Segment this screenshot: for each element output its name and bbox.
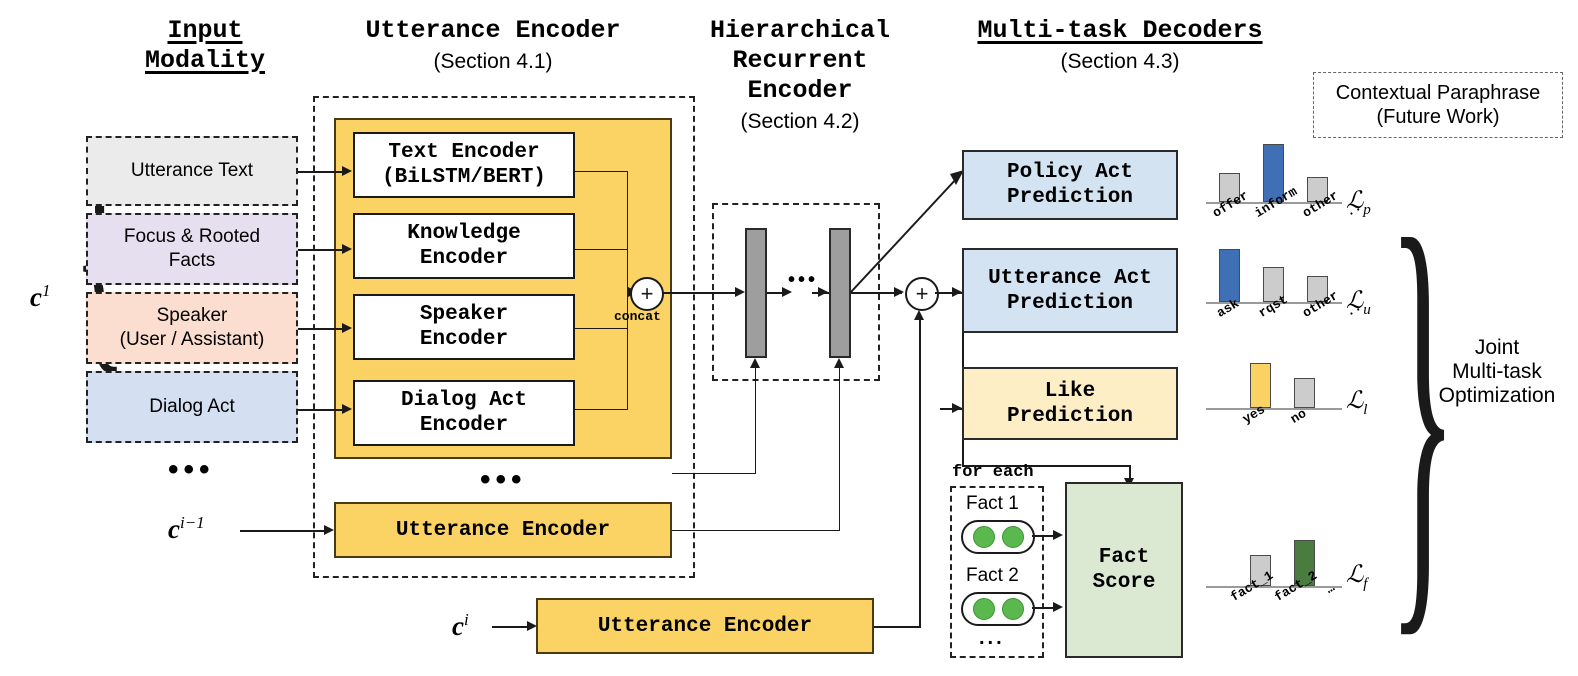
future-work-box: Contextual Paraphrase (Future Work) [1313, 72, 1563, 138]
like-chart-axis [1206, 408, 1342, 410]
heading-input-modality-line2: Modality [100, 46, 310, 76]
input-speaker: Speaker (User / Assistant) [86, 292, 298, 364]
fact-1-capsule [961, 520, 1035, 554]
input-focus-rooted-facts-label: Focus & Rooted Facts [124, 225, 260, 273]
joint-optimization-line3: Optimization [1422, 384, 1572, 408]
like-prediction-box: Like Prediction [962, 367, 1178, 440]
arrow-line-prev-context [240, 530, 325, 532]
fact-score-chart: fact_1 fact_2 … [1206, 524, 1366, 624]
input-speaker-label: Speaker (User / Assistant) [120, 304, 265, 352]
input-dialog-act-label: Dialog Act [149, 395, 235, 419]
prev-utterance-encoder-label: Utterance Encoder [396, 518, 610, 543]
arrow-line-focus-facts [298, 249, 342, 251]
heading-hierarchical-l3: Encoder [680, 76, 920, 106]
bus-line-text-encoder [575, 171, 627, 172]
arrow-head-dialog-act [342, 404, 352, 414]
text-encoder-box: Text Encoder (BiLSTM/BERT) [353, 132, 575, 198]
arrow-head-merge-bottom [914, 310, 924, 320]
heading-utterance-encoder-section: (Section 4.1) [318, 48, 668, 76]
like-prediction-label: Like Prediction [1007, 379, 1133, 429]
concat-node: + [630, 277, 664, 311]
heading-multitask-decoders: Multi-task Decoders (Section 4.3) [940, 16, 1300, 76]
context-i-minus-1-label: ci−1 [168, 514, 205, 543]
fact-score-chart-tick-2: … [1323, 580, 1337, 597]
fact-score-label: Fact Score [1092, 545, 1155, 595]
arrow-head-fact-2 [1053, 602, 1063, 612]
like-chart-bar-1 [1294, 378, 1315, 408]
like-loss-label: ℒl [1346, 388, 1367, 418]
heading-hierarchical-l2: Recurrent [680, 46, 920, 76]
arrow-head-prev-context [324, 525, 334, 535]
current-utterance-encoder-label: Utterance Encoder [598, 614, 812, 639]
utterance-act-chart-bar-0 [1219, 249, 1240, 302]
heading-multitask-title: Multi-task Decoders [940, 16, 1300, 46]
heading-utterance-encoder: Utterance Encoder (Section 4.1) [318, 16, 668, 76]
utterance-act-chart-tick-1: rqst [1256, 292, 1290, 321]
heading-hierarchical-l1: Hierarchical [680, 16, 920, 46]
hre-ellipsis: ••• [788, 270, 818, 290]
arrow-head-fact-1 [1053, 530, 1063, 540]
merge-bottom-feed-horizontal [874, 626, 921, 628]
policy-act-chart: offer inform other .. [1206, 152, 1366, 242]
arrow-line-speaker [298, 328, 342, 330]
policy-act-diagonal-arrow [840, 160, 970, 300]
arrow-head-utterance-act [952, 287, 962, 297]
concat-label: concat [614, 309, 661, 324]
text-encoder-label: Text Encoder (BiLSTM/BERT) [382, 140, 546, 190]
arrow-head-hre-mid [782, 287, 792, 297]
arrow-head-speaker [342, 323, 352, 333]
input-dialog-act: Dialog Act [86, 371, 298, 443]
utterance-act-loss-label: ℒu [1346, 288, 1371, 318]
heading-hierarchical-encoder: Hierarchical Recurrent Encoder (Section … [680, 16, 920, 136]
arrow-line-utterance-text [298, 171, 342, 173]
input-modality-ellipsis: ••• [168, 455, 215, 485]
heading-utterance-encoder-title: Utterance Encoder [318, 16, 668, 46]
arrow-head-cell1-bottom [750, 358, 760, 368]
arrow-head-current-context [527, 621, 537, 631]
for-each-label: for each [952, 463, 1034, 482]
fact-2-dot-a [973, 598, 995, 620]
arrow-head-hre-cell2 [818, 287, 828, 297]
fact-block-ellipsis: ... [979, 628, 1005, 648]
context-1-label: c1 [30, 282, 50, 311]
arrow-line-dialog-act [298, 409, 342, 411]
bus-line-knowledge-encoder [575, 249, 627, 250]
hre-cell-1 [745, 228, 767, 358]
concat-plus-symbol: + [641, 283, 654, 305]
knowledge-encoder-box: Knowledge Encoder [353, 213, 575, 279]
utterance-encoder-inner-ellipsis: ••• [480, 465, 527, 495]
input-utterance-text: Utterance Text [86, 136, 298, 206]
fact-1-caption: Fact 1 [966, 493, 1019, 515]
dialog-act-encoder-label: Dialog Act Encoder [401, 388, 527, 438]
input-focus-rooted-facts: Focus & Rooted Facts [86, 213, 298, 285]
utterance-act-prediction-label: Utterance Act Prediction [988, 266, 1152, 316]
joint-optimization-line1: Joint [1422, 336, 1572, 360]
fact-score-loss-label: ℒf [1346, 562, 1367, 592]
speaker-encoder-box: Speaker Encoder [353, 294, 575, 360]
policy-act-prediction-label: Policy Act Prediction [1007, 160, 1133, 210]
dialog-act-encoder-box: Dialog Act Encoder [353, 380, 575, 446]
arrow-head-like [952, 403, 962, 413]
fact-1-dot-a [973, 526, 995, 548]
fact-2-capsule [961, 592, 1035, 626]
context-i-label: ci [452, 611, 469, 640]
joint-optimization-line2: Multi-task [1422, 360, 1572, 384]
fact-score-box: Fact Score [1065, 482, 1183, 658]
arrow-head-utterance-text [342, 166, 352, 176]
current-utterance-encoder-box: Utterance Encoder [536, 598, 874, 654]
joint-optimization-label: Joint Multi-task Optimization [1422, 336, 1572, 408]
prev-utterance-encoder-box: Utterance Encoder [334, 502, 672, 558]
arrow-head-cell2-bottom [834, 358, 844, 368]
heading-input-modality-line1: Input [100, 16, 310, 46]
input-utterance-text-label: Utterance Text [131, 159, 253, 183]
arrow-line-current-context [492, 626, 530, 628]
like-chart: yes no [1206, 358, 1366, 448]
feed-line-prev-encoder-out [672, 473, 756, 474]
future-work-line2: (Future Work) [1377, 105, 1500, 129]
knowledge-encoder-label: Knowledge Encoder [407, 221, 520, 271]
fact-1-dot-b [1002, 526, 1024, 548]
feed-line-current-encoder-out [672, 530, 840, 531]
fact-score-chart-axis [1206, 586, 1342, 588]
speaker-encoder-label: Speaker Encoder [420, 302, 508, 352]
utterance-act-prediction-box: Utterance Act Prediction [962, 248, 1178, 333]
like-chart-bar-0 [1250, 363, 1271, 408]
feed-vertical-cell1 [755, 368, 756, 474]
arrow-head-focus-facts [342, 244, 352, 254]
heading-input-modality: Input Modality [100, 16, 310, 76]
policy-act-prediction-box: Policy Act Prediction [962, 150, 1178, 220]
merge-bottom-feed-vertical [919, 320, 921, 626]
joint-optimization-brace: } [1388, 168, 1457, 648]
heading-multitask-section: (Section 4.3) [940, 48, 1300, 76]
fact-2-dot-b [1002, 598, 1024, 620]
policy-act-loss-label: ℒp [1346, 188, 1371, 218]
bus-line-speaker-encoder [575, 328, 627, 329]
fact-2-caption: Fact 2 [966, 565, 1019, 587]
utterance-act-chart: ask rqst other .. [1206, 252, 1366, 342]
bus-line-dialog-act-encoder [575, 409, 627, 410]
heading-hierarchical-section: (Section 4.2) [680, 108, 920, 136]
architecture-diagram: Input Modality Utterance Encoder (Sectio… [0, 0, 1578, 676]
future-work-line1: Contextual Paraphrase [1336, 81, 1541, 105]
feed-vertical-cell2 [839, 368, 840, 531]
